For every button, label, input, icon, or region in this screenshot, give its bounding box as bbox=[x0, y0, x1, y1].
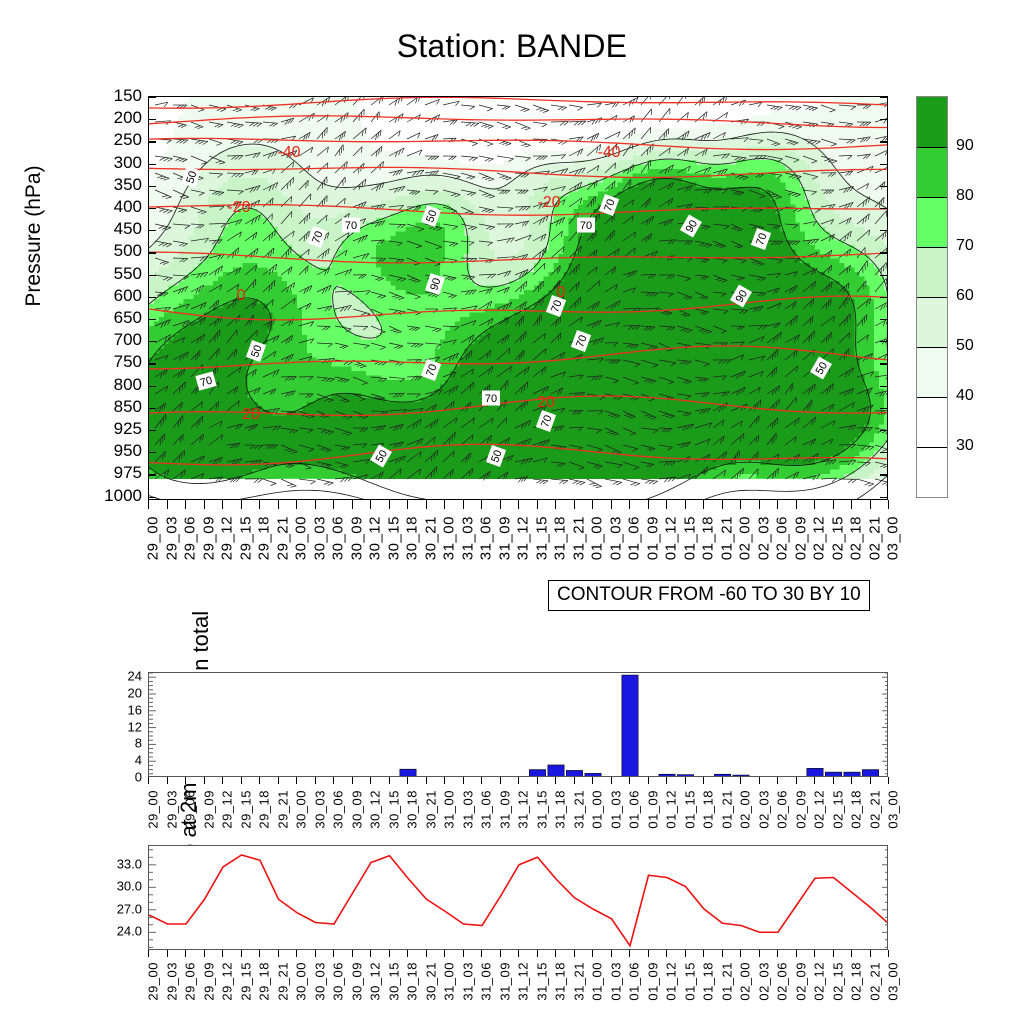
time-tick bbox=[185, 950, 186, 957]
pressure-tick-mark bbox=[149, 208, 156, 209]
time-label-30_12: 30_12 bbox=[368, 790, 383, 829]
time-label-31_06: 31_06 bbox=[479, 790, 494, 829]
time-tick bbox=[241, 500, 242, 509]
time-label-29_21: 29_21 bbox=[275, 790, 290, 829]
time-label-02_21: 02_21 bbox=[867, 790, 882, 829]
time-tick bbox=[592, 777, 593, 784]
time-tick bbox=[611, 950, 612, 957]
temp-time-labels: 29_0029_0329_0629_0929_1229_1529_1829_21… bbox=[148, 962, 888, 1017]
time-label-30_12: 30_12 bbox=[367, 516, 384, 560]
time-tick bbox=[518, 500, 519, 509]
time-label-02_21: 02_21 bbox=[866, 516, 883, 560]
time-tick bbox=[481, 950, 482, 957]
time-label-01_21: 01_21 bbox=[719, 790, 734, 829]
time-tick bbox=[500, 500, 501, 509]
temp-tick-30.0: 30.0 bbox=[117, 879, 142, 894]
colorbar bbox=[916, 96, 948, 498]
time-label-30_03: 30_03 bbox=[312, 962, 327, 1001]
time-tick bbox=[574, 950, 575, 957]
time-tick bbox=[833, 777, 834, 784]
time-tick bbox=[315, 777, 316, 784]
time-label-01_15: 01_15 bbox=[682, 790, 697, 829]
pressure-tick-mark bbox=[880, 208, 887, 209]
time-label-30_18: 30_18 bbox=[404, 516, 421, 560]
time-label-02_06: 02_06 bbox=[775, 962, 790, 1001]
pressure-tick-mark bbox=[880, 363, 887, 364]
pressure-tick-650: 650 bbox=[114, 308, 142, 328]
time-label-29_03: 29_03 bbox=[163, 516, 180, 560]
time-tick bbox=[888, 950, 889, 957]
time-label-31_03: 31_03 bbox=[460, 790, 475, 829]
colorbar-separator bbox=[917, 347, 947, 348]
time-label-01_06: 01_06 bbox=[627, 962, 642, 1001]
time-label-29_00: 29_00 bbox=[145, 516, 162, 560]
time-label-29_18: 29_18 bbox=[257, 962, 272, 1001]
time-label-01_15: 01_15 bbox=[682, 962, 697, 1001]
time-tick bbox=[833, 500, 834, 509]
time-tick bbox=[315, 500, 316, 509]
pressure-tick-500: 500 bbox=[114, 241, 142, 261]
time-label-30_09: 30_09 bbox=[349, 790, 364, 829]
time-tick bbox=[592, 500, 593, 509]
contour-note: CONTOUR FROM -60 TO 30 BY 10 bbox=[548, 580, 870, 611]
time-label-30_06: 30_06 bbox=[330, 516, 347, 560]
time-tick bbox=[333, 500, 334, 509]
pressure-tick-1000: 1000 bbox=[104, 486, 142, 506]
pressure-tick-mark bbox=[880, 430, 887, 431]
pressure-tick-mark bbox=[149, 164, 156, 165]
colorbar-band bbox=[917, 247, 947, 297]
time-tick bbox=[278, 500, 279, 509]
time-label-29_00: 29_00 bbox=[146, 962, 161, 1001]
time-tick bbox=[777, 500, 778, 509]
time-tick bbox=[703, 500, 704, 509]
time-label-02_18: 02_18 bbox=[849, 962, 864, 1001]
pressure-tick-mark bbox=[880, 474, 887, 475]
time-label-31_09: 31_09 bbox=[497, 962, 512, 1001]
cross-section-plot: 5050505090707070707090709050707070707050… bbox=[149, 97, 888, 500]
time-tick bbox=[407, 777, 408, 784]
rain-tick-12: 12 bbox=[128, 719, 142, 734]
time-label-31_18: 31_18 bbox=[552, 516, 569, 560]
time-label-02_09: 02_09 bbox=[792, 516, 809, 560]
time-tick bbox=[259, 777, 260, 784]
time-tick bbox=[777, 950, 778, 957]
time-label-01_12: 01_12 bbox=[663, 516, 680, 560]
pressure-tick-mark bbox=[880, 452, 887, 453]
pressure-axis-label: Pressure (hPa) bbox=[22, 106, 46, 366]
time-label-31_06: 31_06 bbox=[478, 516, 495, 560]
time-label-29_09: 29_09 bbox=[201, 790, 216, 829]
time-tick bbox=[370, 777, 371, 784]
time-tick bbox=[352, 500, 353, 509]
time-label-30_06: 30_06 bbox=[331, 790, 346, 829]
time-tick bbox=[500, 777, 501, 784]
time-label-01_00: 01_00 bbox=[590, 790, 605, 829]
rain-axis: 3hr rain total 04812162024 bbox=[100, 672, 142, 777]
cross-section-panel: 5050505090707070707090709050707070707050… bbox=[148, 96, 888, 500]
time-tick bbox=[167, 500, 168, 509]
time-tick bbox=[722, 777, 723, 784]
time-tick bbox=[759, 777, 760, 784]
time-label-02_00: 02_00 bbox=[738, 962, 753, 1001]
pressure-tick-300: 300 bbox=[114, 153, 142, 173]
time-tick bbox=[148, 950, 149, 957]
time-tick bbox=[759, 950, 760, 957]
time-label-30_00: 30_00 bbox=[294, 790, 309, 829]
time-label-30_12: 30_12 bbox=[368, 962, 383, 1001]
pressure-tick-mark bbox=[880, 97, 887, 98]
pressure-tick-mark bbox=[149, 275, 156, 276]
time-tick bbox=[241, 777, 242, 784]
pressure-tick-mark bbox=[880, 408, 887, 409]
time-tick bbox=[333, 950, 334, 957]
temp-tick-24.0: 24.0 bbox=[117, 924, 142, 939]
time-tick bbox=[537, 950, 538, 957]
pressure-tick-mark bbox=[880, 497, 887, 498]
time-label-02_06: 02_06 bbox=[774, 516, 791, 560]
time-label-01_15: 01_15 bbox=[681, 516, 698, 560]
time-tick bbox=[463, 500, 464, 509]
colorbar-tick-30: 30 bbox=[956, 437, 974, 455]
cross-section-time-labels: 29_0029_0329_0629_0929_1229_1529_1829_21… bbox=[148, 516, 888, 578]
time-tick bbox=[389, 500, 390, 509]
cross-section-frame: 5050505090707070707090709050707070707050… bbox=[148, 96, 888, 500]
pressure-tick-mark bbox=[149, 452, 156, 453]
pressure-tick-mark bbox=[149, 97, 156, 98]
time-label-31_03: 31_03 bbox=[460, 962, 475, 1001]
time-label-30_21: 30_21 bbox=[423, 962, 438, 1001]
pressure-tick-mark bbox=[149, 297, 156, 298]
time-label-01_03: 01_03 bbox=[607, 516, 624, 560]
rain-bar-group bbox=[400, 675, 879, 777]
time-tick bbox=[444, 777, 445, 784]
pressure-axis: 1502002503003504004505005506006507007508… bbox=[82, 96, 142, 500]
time-tick bbox=[333, 777, 334, 784]
time-tick bbox=[426, 777, 427, 784]
time-label-02_21: 02_21 bbox=[867, 962, 882, 1001]
time-tick bbox=[537, 777, 538, 784]
time-label-02_09: 02_09 bbox=[793, 790, 808, 829]
pressure-tick-250: 250 bbox=[114, 130, 142, 150]
time-label-02_03: 02_03 bbox=[755, 516, 772, 560]
time-label-30_03: 30_03 bbox=[311, 516, 328, 560]
time-label-31_15: 31_15 bbox=[534, 962, 549, 1001]
time-tick bbox=[648, 500, 649, 509]
rain-tick-8: 8 bbox=[135, 736, 142, 751]
time-label-01_03: 01_03 bbox=[608, 962, 623, 1001]
time-tick bbox=[222, 777, 223, 784]
time-label-31_12: 31_12 bbox=[515, 516, 532, 560]
time-label-02_12: 02_12 bbox=[812, 790, 827, 829]
colorbar-band bbox=[917, 147, 947, 197]
time-tick bbox=[518, 950, 519, 957]
pressure-tick-mark bbox=[880, 119, 887, 120]
time-tick bbox=[629, 777, 630, 784]
time-label-29_15: 29_15 bbox=[238, 790, 253, 829]
time-tick bbox=[722, 500, 723, 509]
pressure-tick-mark bbox=[149, 230, 156, 231]
pressure-tick-mark bbox=[149, 319, 156, 320]
pressure-tick-800: 800 bbox=[114, 375, 142, 395]
time-tick bbox=[370, 500, 371, 509]
colorbar-separator bbox=[917, 197, 947, 198]
temp-tick-27.0: 27.0 bbox=[117, 901, 142, 916]
time-label-31_12: 31_12 bbox=[516, 962, 531, 1001]
time-tick bbox=[574, 777, 575, 784]
time-tick bbox=[278, 777, 279, 784]
pressure-tick-mark bbox=[880, 319, 887, 320]
time-tick bbox=[833, 950, 834, 957]
time-tick bbox=[278, 950, 279, 957]
pressure-tick-mark bbox=[149, 252, 156, 253]
time-tick bbox=[426, 500, 427, 509]
time-label-29_12: 29_12 bbox=[220, 962, 235, 1001]
pressure-tick-400: 400 bbox=[114, 197, 142, 217]
temp-axis: Temp at 2m 24.027.030.033.0 bbox=[92, 845, 142, 950]
colorbar-tick-50: 50 bbox=[956, 337, 974, 355]
time-tick bbox=[611, 777, 612, 784]
pressure-tick-mark bbox=[149, 474, 156, 475]
temp-time-ticks bbox=[148, 950, 888, 958]
pressure-tick-mark bbox=[149, 119, 156, 120]
time-label-30_18: 30_18 bbox=[405, 962, 420, 1001]
time-tick bbox=[648, 777, 649, 784]
time-label-30_21: 30_21 bbox=[423, 790, 438, 829]
colorbar-band bbox=[917, 197, 947, 247]
time-label-31_18: 31_18 bbox=[553, 962, 568, 1001]
time-label-03_00: 03_00 bbox=[885, 516, 902, 560]
pressure-tick-mark bbox=[149, 430, 156, 431]
time-label-01_03: 01_03 bbox=[608, 790, 623, 829]
time-tick bbox=[296, 500, 297, 509]
pressure-tick-975: 975 bbox=[114, 463, 142, 483]
time-label-03_00: 03_00 bbox=[886, 790, 901, 829]
time-tick bbox=[241, 950, 242, 957]
rain-panel bbox=[148, 672, 888, 777]
time-label-30_09: 30_09 bbox=[348, 516, 365, 560]
time-label-29_09: 29_09 bbox=[201, 962, 216, 1001]
time-label-03_00: 03_00 bbox=[886, 962, 901, 1001]
time-label-30_18: 30_18 bbox=[405, 790, 420, 829]
page-title: Station: BANDE bbox=[0, 28, 1024, 65]
time-label-30_09: 30_09 bbox=[349, 962, 364, 1001]
time-label-02_15: 02_15 bbox=[829, 516, 846, 560]
colorbar-separator bbox=[917, 397, 947, 398]
colorbar-tick-60: 60 bbox=[956, 287, 974, 305]
time-label-02_15: 02_15 bbox=[830, 790, 845, 829]
time-tick bbox=[648, 950, 649, 957]
pressure-tick-mark bbox=[880, 386, 887, 387]
time-tick bbox=[222, 500, 223, 509]
time-label-31_21: 31_21 bbox=[570, 516, 587, 560]
pressure-tick-mark bbox=[149, 186, 156, 187]
time-tick bbox=[555, 500, 556, 509]
time-label-29_00: 29_00 bbox=[146, 790, 161, 829]
time-tick bbox=[685, 950, 686, 957]
time-tick bbox=[204, 777, 205, 784]
time-tick bbox=[629, 500, 630, 509]
time-label-01_18: 01_18 bbox=[701, 790, 716, 829]
time-label-30_03: 30_03 bbox=[312, 790, 327, 829]
colorbar-separator bbox=[917, 447, 947, 448]
time-tick bbox=[703, 950, 704, 957]
time-label-31_00: 31_00 bbox=[442, 790, 457, 829]
pressure-tick-mark bbox=[149, 363, 156, 364]
time-tick bbox=[481, 777, 482, 784]
colorbar-tick-90: 90 bbox=[956, 137, 974, 155]
time-tick bbox=[870, 950, 871, 957]
time-tick bbox=[537, 500, 538, 509]
time-tick bbox=[740, 777, 741, 784]
time-tick bbox=[444, 500, 445, 509]
time-label-30_15: 30_15 bbox=[386, 790, 401, 829]
pressure-tick-mark bbox=[149, 497, 156, 498]
time-tick bbox=[555, 950, 556, 957]
rain-time-ticks bbox=[148, 777, 888, 785]
time-label-29_06: 29_06 bbox=[183, 962, 198, 1001]
time-tick bbox=[444, 950, 445, 957]
pressure-tick-mark bbox=[149, 341, 156, 342]
time-tick bbox=[574, 500, 575, 509]
time-tick bbox=[685, 777, 686, 784]
time-label-02_18: 02_18 bbox=[848, 516, 865, 560]
time-label-31_21: 31_21 bbox=[571, 962, 586, 1001]
time-tick bbox=[148, 500, 149, 509]
time-label-29_15: 29_15 bbox=[237, 516, 254, 560]
time-tick bbox=[481, 500, 482, 509]
temp-panel bbox=[148, 845, 888, 950]
time-label-02_12: 02_12 bbox=[811, 516, 828, 560]
time-label-02_12: 02_12 bbox=[812, 962, 827, 1001]
time-label-31_21: 31_21 bbox=[571, 790, 586, 829]
pressure-tick-mark bbox=[149, 408, 156, 409]
temp-line bbox=[149, 846, 888, 950]
pressure-tick-mark bbox=[149, 141, 156, 142]
pressure-tick-mark bbox=[880, 186, 887, 187]
pressure-tick-750: 750 bbox=[114, 352, 142, 372]
time-label-01_06: 01_06 bbox=[626, 516, 643, 560]
time-label-01_09: 01_09 bbox=[645, 962, 660, 1001]
time-tick bbox=[870, 500, 871, 509]
pressure-tick-950: 950 bbox=[114, 441, 142, 461]
time-label-01_21: 01_21 bbox=[718, 516, 735, 560]
temp-frame bbox=[148, 845, 888, 950]
time-tick bbox=[611, 500, 612, 509]
time-label-29_03: 29_03 bbox=[164, 962, 179, 1001]
time-label-29_15: 29_15 bbox=[238, 962, 253, 1001]
time-label-29_21: 29_21 bbox=[275, 962, 290, 1001]
time-label-01_12: 01_12 bbox=[664, 962, 679, 1001]
time-tick bbox=[315, 950, 316, 957]
colorbar-labels: 90807060504030 bbox=[956, 96, 1016, 496]
pressure-tick-200: 200 bbox=[114, 108, 142, 128]
pressure-tick-mark bbox=[880, 252, 887, 253]
time-label-02_00: 02_00 bbox=[737, 516, 754, 560]
pressure-tick-mark bbox=[149, 386, 156, 387]
pressure-tick-mark bbox=[880, 341, 887, 342]
time-label-02_03: 02_03 bbox=[756, 962, 771, 1001]
time-tick bbox=[407, 950, 408, 957]
time-tick bbox=[814, 500, 815, 509]
colorbar-separator bbox=[917, 297, 947, 298]
time-label-31_09: 31_09 bbox=[497, 790, 512, 829]
time-tick bbox=[629, 950, 630, 957]
temp-series-line bbox=[149, 855, 888, 946]
time-label-01_00: 01_00 bbox=[589, 516, 606, 560]
time-label-31_06: 31_06 bbox=[479, 962, 494, 1001]
time-label-31_15: 31_15 bbox=[533, 516, 550, 560]
pressure-tick-925: 925 bbox=[114, 419, 142, 439]
time-label-01_09: 01_09 bbox=[645, 790, 660, 829]
time-label-02_09: 02_09 bbox=[793, 962, 808, 1001]
time-tick bbox=[204, 500, 205, 509]
pressure-tick-850: 850 bbox=[114, 397, 142, 417]
time-tick bbox=[259, 500, 260, 509]
time-label-02_18: 02_18 bbox=[849, 790, 864, 829]
time-tick bbox=[518, 777, 519, 784]
time-tick bbox=[296, 950, 297, 957]
time-label-30_21: 30_21 bbox=[422, 516, 439, 560]
time-label-01_18: 01_18 bbox=[700, 516, 717, 560]
time-label-01_06: 01_06 bbox=[627, 790, 642, 829]
time-label-01_00: 01_00 bbox=[590, 962, 605, 1001]
time-tick bbox=[759, 500, 760, 509]
time-label-31_15: 31_15 bbox=[534, 790, 549, 829]
rain-tick-4: 4 bbox=[135, 753, 142, 768]
time-tick bbox=[685, 500, 686, 509]
time-tick bbox=[389, 950, 390, 957]
time-label-31_09: 31_09 bbox=[496, 516, 513, 560]
time-tick bbox=[500, 950, 501, 957]
time-tick bbox=[796, 950, 797, 957]
time-tick bbox=[740, 950, 741, 957]
time-label-29_18: 29_18 bbox=[256, 516, 273, 560]
time-tick bbox=[851, 500, 852, 509]
rain-frame bbox=[148, 672, 888, 777]
time-label-01_12: 01_12 bbox=[664, 790, 679, 829]
time-tick bbox=[814, 777, 815, 784]
time-tick bbox=[148, 777, 149, 784]
time-tick bbox=[888, 777, 889, 784]
colorbar-tick-70: 70 bbox=[956, 237, 974, 255]
time-tick bbox=[296, 777, 297, 784]
rh-fill-layer bbox=[149, 97, 888, 500]
rain-tick-24: 24 bbox=[128, 669, 142, 684]
time-label-02_06: 02_06 bbox=[775, 790, 790, 829]
time-tick bbox=[352, 950, 353, 957]
time-tick bbox=[851, 950, 852, 957]
time-tick bbox=[167, 777, 168, 784]
colorbar-band bbox=[917, 397, 947, 447]
colorbar-band bbox=[917, 447, 947, 497]
colorbar-band bbox=[917, 97, 947, 147]
time-tick bbox=[352, 777, 353, 784]
time-label-02_15: 02_15 bbox=[830, 962, 845, 1001]
rain-tick-0: 0 bbox=[135, 770, 142, 785]
time-tick bbox=[167, 950, 168, 957]
pressure-tick-350: 350 bbox=[114, 175, 142, 195]
colorbar-tick-40: 40 bbox=[956, 387, 974, 405]
pressure-tick-mark bbox=[880, 275, 887, 276]
time-label-30_15: 30_15 bbox=[386, 962, 401, 1001]
time-tick bbox=[407, 500, 408, 509]
time-tick bbox=[703, 777, 704, 784]
pressure-tick-600: 600 bbox=[114, 286, 142, 306]
time-tick bbox=[888, 500, 889, 509]
time-tick bbox=[851, 777, 852, 784]
time-label-29_12: 29_12 bbox=[220, 790, 235, 829]
